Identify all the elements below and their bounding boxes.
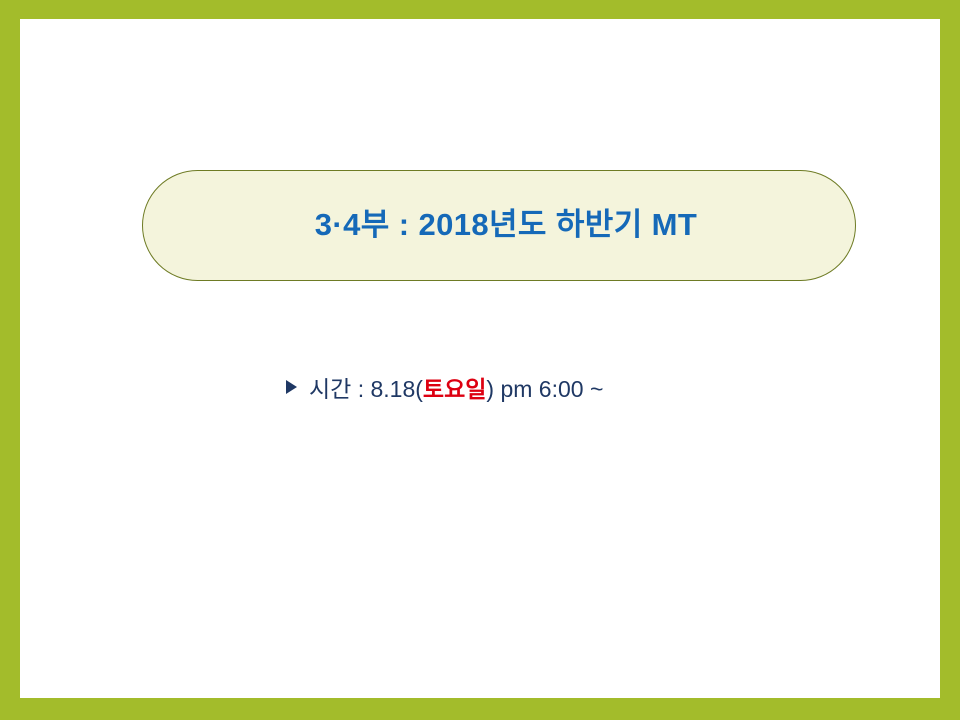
schedule-label: 시간 : 8.18(: [309, 374, 423, 404]
slide-title: 3·4부 : 2018년도 하반기 MT: [315, 208, 697, 242]
title-rounded-rectangle: 3·4부 : 2018년도 하반기 MT: [142, 170, 856, 281]
schedule-bullet-line: 시간 : 8.18( 토요일 ) pm 6:00 ~: [286, 374, 603, 404]
triangle-right-icon: [286, 380, 297, 394]
schedule-time: ) pm 6:00 ~: [486, 374, 603, 404]
slide-canvas: 3·4부 : 2018년도 하반기 MT 시간 : 8.18( 토요일 ) pm…: [20, 19, 940, 698]
slide-frame: 3·4부 : 2018년도 하반기 MT 시간 : 8.18( 토요일 ) pm…: [0, 0, 960, 720]
schedule-day-highlight: 토요일: [423, 374, 486, 404]
